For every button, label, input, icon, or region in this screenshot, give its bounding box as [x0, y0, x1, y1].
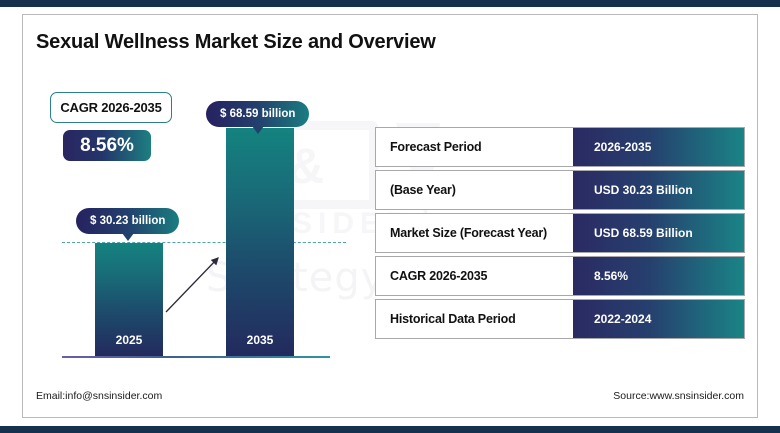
table-row: CAGR 2026-2035 8.56% — [375, 256, 745, 296]
footer-email: Email:info@snsinsider.com — [36, 390, 162, 402]
page-title: Sexual Wellness Market Size and Overview — [36, 31, 436, 54]
infographic-page: & INSIDER Strategy & Stats Sexual Wellne… — [0, 0, 780, 433]
footer-source: Source:www.snsinsider.com — [613, 390, 744, 402]
table-row: Forecast Period 2026-2035 — [375, 127, 745, 167]
bar-value-label-2035: $ 68.59 billion — [220, 108, 295, 120]
table-row: (Base Year) USD 30.23 Billion — [375, 170, 745, 210]
bar-value-badge-2035: $ 68.59 billion — [206, 101, 309, 127]
table-row-value: USD 68.59 Billion — [573, 214, 744, 252]
table-row-value: 2022-2024 — [573, 300, 744, 338]
bar-chart: $ 68.59 billion $ 30.23 billion 2025 203… — [0, 0, 360, 380]
bottom-accent-band — [0, 426, 780, 433]
table-row: Historical Data Period 2022-2024 — [375, 299, 745, 339]
cagr-value-badge: 8.56% — [63, 130, 151, 161]
growth-arrow-icon — [160, 250, 230, 320]
bar-category-label-2025: 2025 — [95, 333, 163, 347]
table-row: Market Size (Forecast Year) USD 68.59 Bi… — [375, 213, 745, 253]
cagr-period-badge: CAGR 2026-2035 — [50, 92, 172, 123]
table-row-label: (Base Year) — [376, 171, 573, 209]
table-row-value: USD 30.23 Billion — [573, 171, 744, 209]
table-row-label: Historical Data Period — [376, 300, 573, 338]
bar-value-label-2025: $ 30.23 billion — [90, 215, 165, 227]
table-row-label: CAGR 2026-2035 — [376, 257, 573, 295]
overview-table: Forecast Period 2026-2035 (Base Year) US… — [375, 127, 745, 342]
bar-2035: 2035 — [226, 128, 294, 356]
bar-value-badge-2025: $ 30.23 billion — [76, 208, 179, 234]
cagr-value-label: 8.56% — [80, 135, 134, 157]
cagr-period-label: CAGR 2026-2035 — [60, 100, 161, 115]
bar-category-label-2035: 2035 — [226, 333, 294, 347]
table-row-value: 2026-2035 — [573, 128, 744, 166]
chart-baseline-axis — [62, 356, 330, 358]
table-row-value: 8.56% — [573, 257, 744, 295]
table-row-label: Market Size (Forecast Year) — [376, 214, 573, 252]
bar-2025: 2025 — [95, 243, 163, 356]
table-row-label: Forecast Period — [376, 128, 573, 166]
